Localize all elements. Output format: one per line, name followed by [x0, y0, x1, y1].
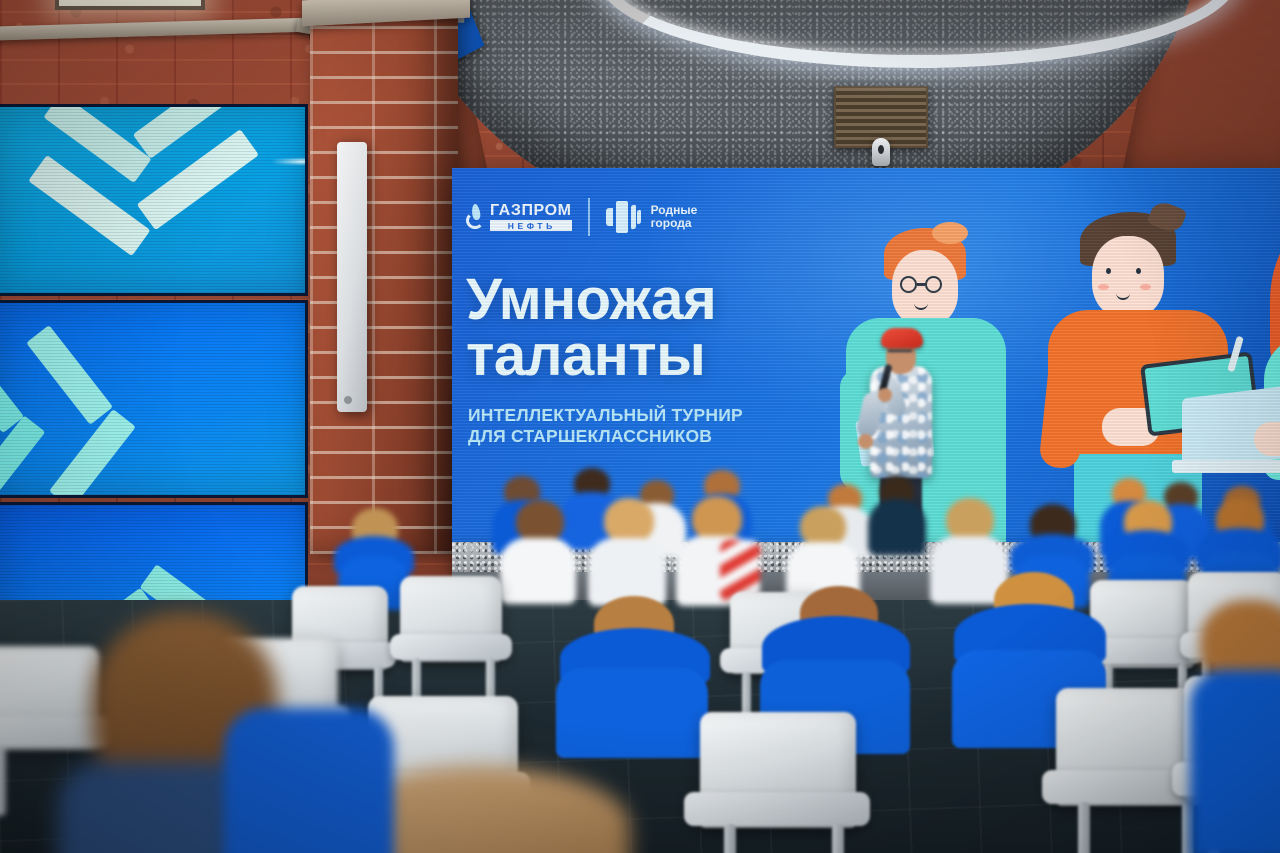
audience-member	[500, 500, 576, 600]
audience-member-blue-hoodie	[556, 596, 708, 746]
presenter-hand-mic	[878, 388, 892, 402]
logo-divider	[588, 198, 590, 236]
char2-eye-right	[1136, 268, 1141, 274]
brick-column	[310, 0, 458, 554]
char1-hair-tuft	[932, 222, 968, 244]
audience-member	[588, 498, 666, 602]
screen-subheadline: ИНТЕЛЛЕКТУАЛЬНЫЙ ТУРНИР ДЛЯ СТАРШЕКЛАССН…	[468, 405, 743, 448]
audience-member	[868, 476, 926, 552]
headline-line-1: Умножая	[466, 272, 716, 328]
led-panel-middle	[0, 300, 308, 498]
subhead-line-2: ДЛЯ СТАРШЕКЛАССНИКОВ	[468, 426, 743, 447]
screen-highlight-streak	[271, 159, 308, 164]
ceiling-sensor-icon	[872, 138, 890, 166]
gazprom-subbrand: НЕФТЬ	[490, 220, 572, 231]
gazprom-wordmark: ГАЗПРОМ	[490, 203, 572, 219]
foreground-person-right	[224, 668, 394, 853]
rodnye-goroda-mark-icon	[606, 201, 642, 233]
screen-headline: Умножая таланты	[466, 272, 716, 383]
upper-wall-lamp	[55, 0, 205, 10]
line-array-loudspeaker	[337, 142, 367, 412]
headline-line-2: таланты	[466, 328, 716, 384]
logo-row: ГАЗПРОМ НЕФТЬ Родные города	[466, 198, 697, 236]
rodnye-goroda-logo: Родные города	[606, 201, 698, 233]
char2-eye-left	[1106, 268, 1111, 274]
led-panel-top	[0, 104, 308, 296]
chevron-right-icon-b	[49, 325, 157, 491]
gazprom-logo: ГАЗПРОМ НЕФТЬ	[466, 203, 572, 231]
chevron-down-icon-b	[47, 155, 259, 265]
presenter-hand-free	[858, 434, 873, 449]
foreground-person-far-right	[1190, 600, 1280, 850]
presenter-beret	[881, 328, 923, 348]
char2-head	[1092, 236, 1164, 318]
audience-member-with-scarf	[676, 496, 756, 602]
circular-led-ring-light	[598, 0, 1238, 68]
char2-blush-left	[1098, 284, 1109, 290]
char3-laptop-base	[1172, 460, 1280, 473]
rodnye-goroda-line1: Родные	[651, 204, 698, 217]
presenter-glasses-icon	[888, 350, 912, 356]
char2-blush-right	[1140, 284, 1151, 290]
char3-arm	[1254, 422, 1280, 456]
screenshot-root: ГАЗПРОМ НЕФТЬ Родные города У	[0, 0, 1280, 853]
rodnye-goroda-line2: города	[651, 217, 698, 230]
subhead-line-1: ИНТЕЛЛЕКТУАЛЬНЫЙ ТУРНИР	[468, 405, 743, 426]
gazprom-flame-icon	[466, 204, 485, 230]
